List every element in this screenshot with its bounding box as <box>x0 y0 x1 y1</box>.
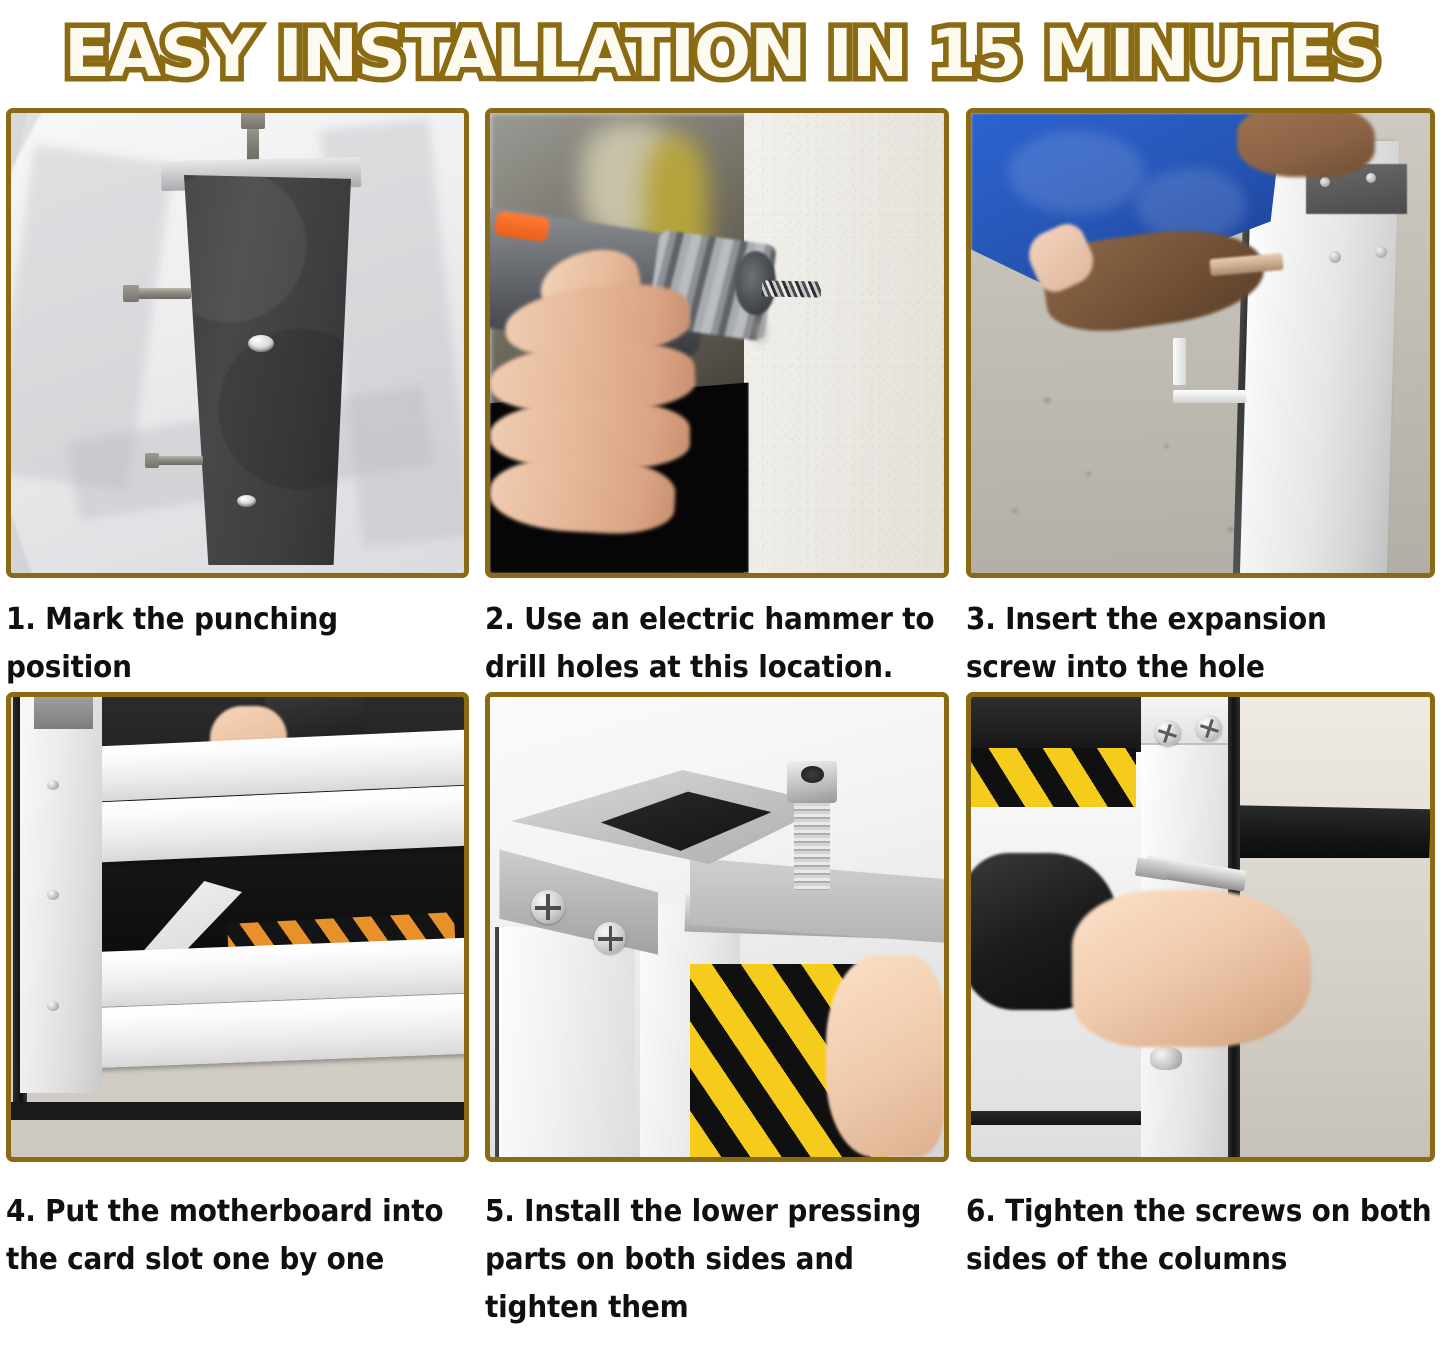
lower-screw <box>1150 1047 1182 1070</box>
step-caption-1: 1. Mark the punching position <box>6 596 471 692</box>
photo-insert-boards-card-slot <box>11 697 464 1157</box>
floor-speck <box>1012 509 1018 513</box>
back-wall <box>1210 697 1430 817</box>
allen-key-short-arm <box>1173 338 1186 384</box>
installation-steps-grid: 1. Mark the punching position <box>0 108 1445 1332</box>
photo-insert-expansion-screw <box>971 113 1430 573</box>
drill-dust <box>749 315 772 347</box>
step-caption-6: 6. Tighten the screws on both sides of t… <box>966 1188 1437 1284</box>
photo-frame-5 <box>485 692 949 1162</box>
step-caption-5: 5. Install the lower pressing parts on b… <box>485 1188 951 1332</box>
side-bolt-upper-head <box>123 285 139 302</box>
photo-tighten-column-screws <box>971 697 1430 1157</box>
column-screw <box>47 780 59 790</box>
hand-supporting-part <box>826 955 944 1157</box>
hazard-tape <box>971 748 1136 808</box>
phillips-screw <box>531 890 565 924</box>
panel-bottom-edge <box>971 1111 1145 1125</box>
header-banner: EASY INSTALLATION IN 15 MINUTES <box>0 0 1445 108</box>
dark-upper-band <box>971 697 1145 752</box>
step-card-3: 3. Insert the expansion screw into the h… <box>962 108 1443 692</box>
step-caption-3: 3. Insert the expansion screw into the h… <box>966 596 1437 692</box>
mounting-hole-upper <box>248 335 274 352</box>
hand-tightening <box>1072 890 1311 1046</box>
photo-frame-6 <box>966 692 1435 1162</box>
upper-hand <box>1237 113 1375 177</box>
hex-bolt-shaft <box>794 798 830 890</box>
column-screw <box>47 1001 59 1011</box>
hand-holding-drill <box>490 269 740 554</box>
photo-drill-holes <box>490 113 944 573</box>
top-bolt-head <box>241 113 265 129</box>
step-card-5: 5. Install the lower pressing parts on b… <box>481 692 962 1332</box>
photo-frame-2 <box>485 108 949 578</box>
step-card-1: 1. Mark the punching position <box>0 108 481 692</box>
floor-shadow-line <box>11 1102 464 1120</box>
photo-install-lower-pressing-parts <box>490 697 944 1157</box>
allen-key <box>1173 338 1246 402</box>
step-caption-2: 2. Use an electric hammer to drill holes… <box>485 596 951 692</box>
page-title: EASY INSTALLATION IN 15 MINUTES <box>54 18 1390 90</box>
wall-texture <box>744 113 944 573</box>
photo-mark-punching-position <box>11 113 464 573</box>
steps-row-bottom: 4. Put the motherboard into the card slo… <box>0 692 1445 1332</box>
white-column <box>20 697 102 1093</box>
step-caption-4: 4. Put the motherboard into the card slo… <box>6 1188 471 1284</box>
phillips-screw <box>1155 720 1181 746</box>
photo-frame-3 <box>966 108 1435 578</box>
shirt-fold <box>1008 131 1146 214</box>
plate-screw <box>1329 251 1341 263</box>
steps-row-top: 1. Mark the punching position <box>0 108 1445 692</box>
column-top-plate <box>34 697 93 729</box>
step-card-6: 6. Tighten the screws on both sides of t… <box>962 692 1443 1332</box>
plate-screw <box>1366 173 1376 183</box>
step-card-2: 2. Use an electric hammer to drill holes… <box>481 108 962 692</box>
step-card-4: 4. Put the motherboard into the card slo… <box>0 692 481 1332</box>
mounting-hole-lower <box>237 495 256 507</box>
photo-frame-4 <box>6 692 469 1162</box>
white-column-left <box>499 927 635 1157</box>
side-bolt-lower-head <box>145 453 159 468</box>
dark-baseboard <box>1209 805 1430 865</box>
white-wall <box>744 113 944 573</box>
floor-speck <box>1086 472 1091 476</box>
hex-bolt-socket <box>801 766 824 783</box>
photo-frame-1 <box>6 108 469 578</box>
floor-speck <box>1164 444 1169 448</box>
drill-bit <box>762 280 821 297</box>
allen-key-long-arm <box>1173 390 1246 403</box>
